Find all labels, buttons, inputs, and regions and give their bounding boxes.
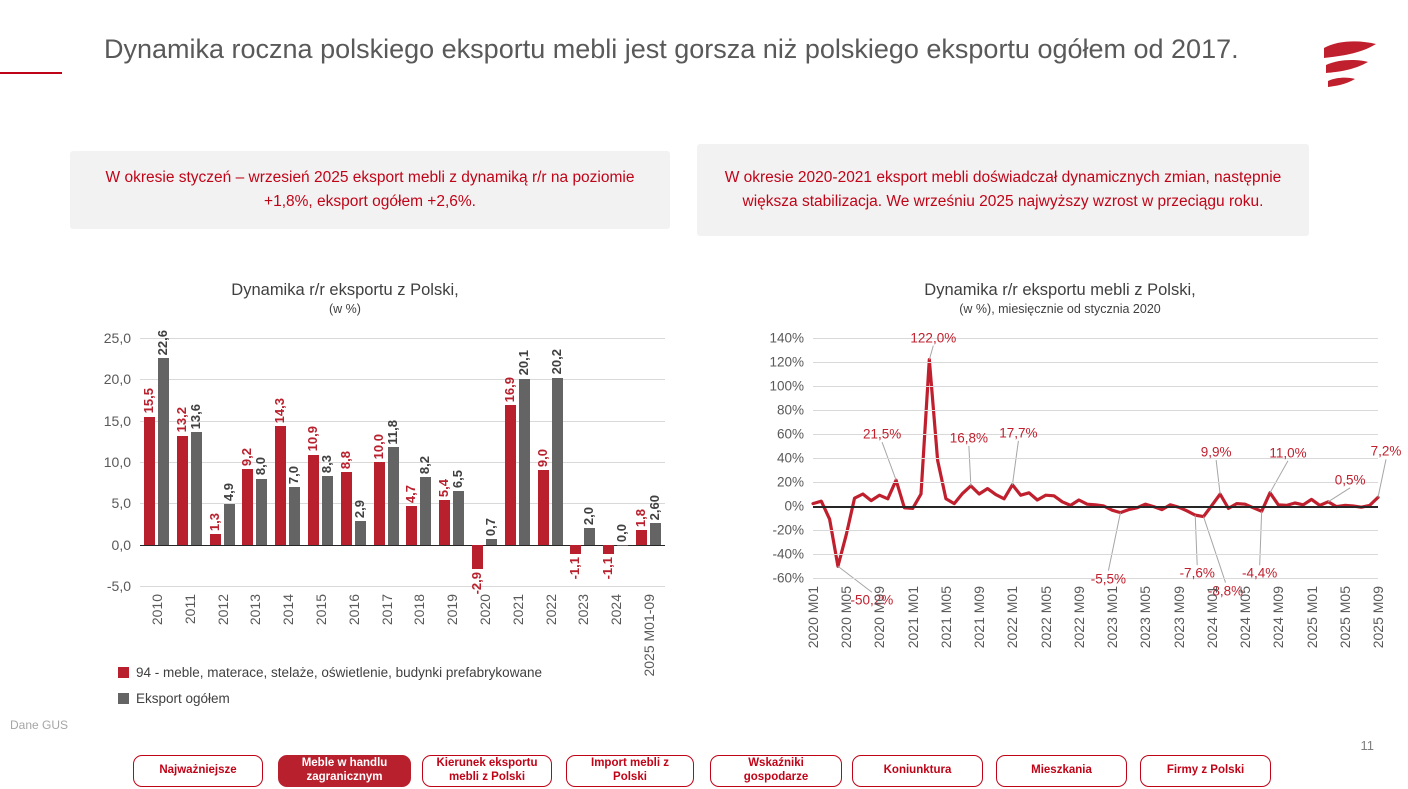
bar-group: 14,37,0 bbox=[273, 338, 302, 586]
data-point-label: -4,4% bbox=[1242, 566, 1277, 581]
y-axis-tick: 40% bbox=[777, 451, 804, 466]
gridline bbox=[813, 554, 1378, 555]
data-point-label: -5,5% bbox=[1091, 571, 1126, 586]
bar-value-label: 9,2 bbox=[240, 448, 253, 466]
gridline bbox=[813, 386, 1378, 387]
nav-button-meble-w-handlu-zagranicznym[interactable]: Meble w handlu zagranicznym bbox=[278, 755, 411, 787]
x-axis-tick: 2024 bbox=[609, 594, 623, 625]
bar-value-label: 0,0 bbox=[615, 524, 628, 542]
annotation-leader-line bbox=[929, 346, 933, 360]
x-axis-tick: 2013 bbox=[248, 594, 262, 625]
bar bbox=[439, 500, 450, 545]
bar bbox=[486, 539, 497, 545]
bar-value-label: 6,5 bbox=[451, 470, 464, 488]
bar bbox=[584, 528, 595, 545]
x-axis-tick: 2025 M01 bbox=[1305, 586, 1319, 648]
bar bbox=[242, 469, 253, 545]
x-axis-tick: 2025 M05 bbox=[1338, 586, 1352, 648]
callout-left: W okresie styczeń – wrzesień 2025 ekspor… bbox=[70, 151, 670, 229]
bar bbox=[224, 504, 235, 545]
bar-value-label: 16,9 bbox=[503, 377, 516, 402]
accent-rule bbox=[0, 72, 62, 74]
legend-swatch-icon bbox=[118, 667, 129, 678]
annotation-leader-line bbox=[1108, 513, 1120, 571]
y-axis-tick: 100% bbox=[769, 379, 804, 394]
nav-button-najważniejsze[interactable]: Najważniejsze bbox=[133, 755, 263, 787]
bar bbox=[650, 523, 661, 544]
annotation-leader-line bbox=[1195, 515, 1197, 565]
bar-value-label: -1,1 bbox=[568, 557, 581, 579]
y-axis-tick: 10,0 bbox=[104, 454, 131, 470]
x-axis-tick: 2025 M09 bbox=[1371, 586, 1385, 648]
chart-right-plot: 140%120%100%80%60%40%20%0%-20%-40%-60%-5… bbox=[813, 338, 1378, 578]
x-axis-tick: 2024 M05 bbox=[1238, 586, 1252, 648]
bar-value-label: 14,3 bbox=[273, 398, 286, 423]
bar bbox=[519, 379, 530, 545]
bar bbox=[388, 447, 399, 545]
bar-value-label: 0,7 bbox=[484, 518, 497, 536]
data-point-label: -7,6% bbox=[1180, 566, 1215, 581]
bar-value-label: 2,0 bbox=[582, 507, 595, 525]
x-axis-tick: 2021 M09 bbox=[972, 586, 986, 648]
bar-value-label: 13,6 bbox=[189, 404, 202, 429]
x-axis-tick: 2024 M01 bbox=[1205, 586, 1219, 648]
bar-group: 10,98,3 bbox=[306, 338, 335, 586]
y-axis-tick: 20,0 bbox=[104, 371, 131, 387]
x-axis-tick: 2012 bbox=[216, 594, 230, 625]
data-point-label: 7,2% bbox=[1371, 444, 1402, 459]
page-title: Dynamika roczna polskiego eksportu mebli… bbox=[104, 30, 1244, 68]
annotation-leader-line bbox=[1270, 461, 1288, 493]
bar-value-label: 1,8 bbox=[634, 509, 647, 527]
annotation-leader-line bbox=[1328, 488, 1350, 502]
y-axis-tick: -60% bbox=[772, 571, 804, 586]
nav-button-mieszkania[interactable]: Mieszkania bbox=[996, 755, 1127, 787]
nav-button-kierunek-eksportu-mebli-z-polski[interactable]: Kierunek eksportu mebli z Polski bbox=[422, 755, 552, 787]
bar-group: 5,46,5 bbox=[437, 338, 466, 586]
bar bbox=[191, 432, 202, 544]
y-axis-tick: 20% bbox=[777, 475, 804, 490]
chart-annual-export-dynamics: Dynamika r/r eksportu z Polski, (w %) 25… bbox=[0, 280, 690, 710]
zero-axis-line bbox=[813, 506, 1378, 508]
bar-group: -2,90,7 bbox=[470, 338, 499, 586]
bar-value-label: 13,2 bbox=[175, 407, 188, 432]
legend-item: Eksport ogółem bbox=[118, 691, 542, 706]
gridline bbox=[140, 586, 665, 587]
x-axis-tick: 2023 M05 bbox=[1138, 586, 1152, 648]
x-axis-tick: 2018 bbox=[412, 594, 426, 625]
chart-left-legend: 94 - meble, materace, stelaże, oświetlen… bbox=[118, 665, 542, 717]
bar-value-label: 22,6 bbox=[156, 330, 169, 355]
bar-value-label: 7,0 bbox=[287, 466, 300, 484]
annotation-leader-line bbox=[1216, 460, 1220, 494]
x-axis-tick: 2023 M09 bbox=[1172, 586, 1186, 648]
legend-swatch-icon bbox=[118, 693, 129, 704]
x-axis-tick: 2010 bbox=[150, 594, 164, 625]
x-axis-tick: 2020 M05 bbox=[839, 586, 853, 648]
bar bbox=[538, 470, 549, 544]
data-point-label: 16,8% bbox=[950, 430, 988, 445]
x-axis-tick: 2015 bbox=[314, 594, 328, 625]
bar-value-label: 8,2 bbox=[418, 456, 431, 474]
bar bbox=[374, 462, 385, 545]
line-series bbox=[813, 360, 1378, 567]
bar-value-label: 8,3 bbox=[320, 455, 333, 473]
bar-group: -1,10,0 bbox=[601, 338, 630, 586]
bar-group: 9,28,0 bbox=[240, 338, 269, 586]
bar-group: 10,011,8 bbox=[372, 338, 401, 586]
source-note: Dane GUS bbox=[10, 718, 68, 732]
bar-value-label: 4,7 bbox=[404, 485, 417, 503]
annotation-leader-line bbox=[1012, 441, 1018, 485]
y-axis-tick: 5,0 bbox=[112, 495, 131, 511]
data-point-label: 9,9% bbox=[1201, 445, 1232, 460]
data-point-label: 17,7% bbox=[999, 425, 1037, 440]
bar bbox=[603, 545, 614, 554]
bar-group: 4,78,2 bbox=[404, 338, 433, 586]
bar bbox=[453, 491, 464, 545]
gridline bbox=[813, 482, 1378, 483]
gridline bbox=[813, 362, 1378, 363]
x-axis-tick: 2011 bbox=[183, 594, 197, 624]
chart-right-title: Dynamika r/r eksportu mebli z Polski, (w… bbox=[800, 280, 1320, 319]
x-axis-tick: 2021 M01 bbox=[906, 586, 920, 648]
x-axis-tick: 2022 M01 bbox=[1005, 586, 1019, 648]
nav-button-firmy-z-polski[interactable]: Firmy z Polski bbox=[1140, 755, 1271, 787]
bar-group: 13,213,6 bbox=[175, 338, 204, 586]
y-axis-tick: 15,0 bbox=[104, 413, 131, 429]
bar bbox=[636, 530, 647, 545]
x-axis-tick: 2022 M05 bbox=[1039, 586, 1053, 648]
bar-value-label: 8,0 bbox=[254, 457, 267, 475]
bar-value-label: -2,9 bbox=[470, 572, 483, 594]
bar-value-label: 2,60 bbox=[648, 495, 661, 520]
x-axis-tick: 2019 bbox=[445, 594, 459, 625]
bar-value-label: 10,9 bbox=[306, 426, 319, 451]
page-number: 11 bbox=[1361, 738, 1375, 753]
y-axis-tick: 120% bbox=[769, 355, 804, 370]
x-axis-tick: 2020 bbox=[478, 594, 492, 625]
bar bbox=[256, 479, 267, 545]
y-axis-tick: 60% bbox=[777, 427, 804, 442]
x-axis-tick: 2021 M05 bbox=[939, 586, 953, 648]
callout-right: W okresie 2020-2021 eksport mebli doświa… bbox=[697, 144, 1309, 236]
y-axis-tick: 25,0 bbox=[104, 330, 131, 346]
bar bbox=[355, 521, 366, 545]
chart-left-title: Dynamika r/r eksportu z Polski, (w %) bbox=[130, 280, 560, 319]
y-axis-tick: 80% bbox=[777, 403, 804, 418]
data-point-label: 21,5% bbox=[863, 427, 901, 442]
bar bbox=[308, 455, 319, 545]
bar-group: 1,82,60 bbox=[634, 338, 663, 586]
legend-item: 94 - meble, materace, stelaże, oświetlen… bbox=[118, 665, 542, 680]
bar bbox=[505, 405, 516, 545]
x-axis-tick: 2020 M09 bbox=[872, 586, 886, 648]
slide: Dynamika roczna polskiego eksportu mebli… bbox=[0, 0, 1408, 789]
y-axis-tick: -40% bbox=[772, 547, 804, 562]
x-axis-tick: 2020 M01 bbox=[806, 586, 820, 648]
bar-value-label: -1,1 bbox=[601, 557, 614, 579]
bar bbox=[275, 426, 286, 544]
bar-value-label: 2,9 bbox=[353, 500, 366, 518]
y-axis-tick: -20% bbox=[772, 523, 804, 538]
bar-value-label: 8,8 bbox=[339, 451, 352, 469]
navbar: NajważniejszeMeble w handlu zagranicznym… bbox=[0, 755, 1408, 789]
x-axis-tick: 2014 bbox=[281, 594, 295, 625]
bar-group: -1,12,0 bbox=[568, 338, 597, 586]
bar bbox=[406, 506, 417, 545]
bar-value-label: 9,0 bbox=[536, 449, 549, 467]
bar-value-label: 5,4 bbox=[437, 479, 450, 497]
bar bbox=[552, 378, 563, 545]
bar-value-label: 20,2 bbox=[550, 349, 563, 374]
bar bbox=[289, 487, 300, 545]
bar-value-label: 1,3 bbox=[208, 513, 221, 531]
nav-button-koniunktura[interactable]: Koniunktura bbox=[852, 755, 983, 787]
gridline bbox=[813, 530, 1378, 531]
annotation-leader-line bbox=[1260, 511, 1262, 565]
x-axis-tick: 2017 bbox=[380, 594, 394, 625]
bar bbox=[570, 545, 581, 554]
x-axis-tick: 2016 bbox=[347, 594, 361, 625]
gridline bbox=[813, 410, 1378, 411]
bar bbox=[617, 545, 628, 547]
bar-value-label: 10,0 bbox=[372, 434, 385, 459]
bar bbox=[144, 417, 155, 545]
data-point-label: 11,0% bbox=[1269, 445, 1306, 460]
chart-left-plot: 25,020,015,010,05,00,0-5,015,522,6201013… bbox=[140, 338, 665, 586]
bar-group: 16,920,1 bbox=[503, 338, 532, 586]
nav-button-wskaźniki-gospodarze[interactable]: Wskaźniki gospodarze bbox=[710, 755, 842, 787]
x-axis-tick: 2024 M09 bbox=[1271, 586, 1285, 648]
bar-value-label: 4,9 bbox=[222, 483, 235, 501]
x-axis-tick: 2021 bbox=[511, 594, 525, 625]
annotation-leader-line bbox=[1378, 459, 1386, 497]
bar-group: 15,522,6 bbox=[142, 338, 171, 586]
bar-value-label: 11,8 bbox=[386, 420, 399, 445]
bar bbox=[472, 545, 483, 569]
y-axis-tick: 0% bbox=[784, 499, 804, 514]
y-axis-tick: 140% bbox=[769, 331, 804, 346]
company-logo bbox=[1302, 36, 1386, 98]
bar bbox=[322, 476, 333, 545]
bar-group: 1,34,9 bbox=[208, 338, 237, 586]
gridline bbox=[813, 338, 1378, 339]
bar bbox=[420, 477, 431, 545]
y-axis-tick: 0,0 bbox=[112, 537, 131, 553]
bar bbox=[158, 358, 169, 545]
x-axis-tick: 2022 M09 bbox=[1072, 586, 1086, 648]
nav-button-import-mebli-z-polski[interactable]: Import mebli z Polski bbox=[566, 755, 694, 787]
bar-group: 8,82,9 bbox=[339, 338, 368, 586]
x-axis-tick: 2023 bbox=[576, 594, 590, 625]
x-axis-tick: 2023 M01 bbox=[1105, 586, 1119, 648]
bar bbox=[177, 436, 188, 545]
annotation-leader-line bbox=[969, 446, 971, 486]
data-point-label: 122,0% bbox=[910, 330, 956, 345]
bar-value-label: 15,5 bbox=[142, 388, 155, 413]
y-axis-tick: -5,0 bbox=[107, 578, 131, 594]
chart-monthly-furniture-export-dynamics: Dynamika r/r eksportu mebli z Polski, (w… bbox=[690, 280, 1408, 710]
data-point-label: 0,5% bbox=[1335, 472, 1366, 487]
bar-group: 9,020,2 bbox=[536, 338, 565, 586]
bar bbox=[341, 472, 352, 545]
x-axis-tick: 2025 M01-09 bbox=[642, 594, 656, 677]
annotation-leader-line bbox=[882, 442, 896, 480]
x-axis-tick: 2022 bbox=[544, 594, 558, 625]
bar-value-label: 20,1 bbox=[517, 350, 530, 375]
bar bbox=[210, 534, 221, 545]
